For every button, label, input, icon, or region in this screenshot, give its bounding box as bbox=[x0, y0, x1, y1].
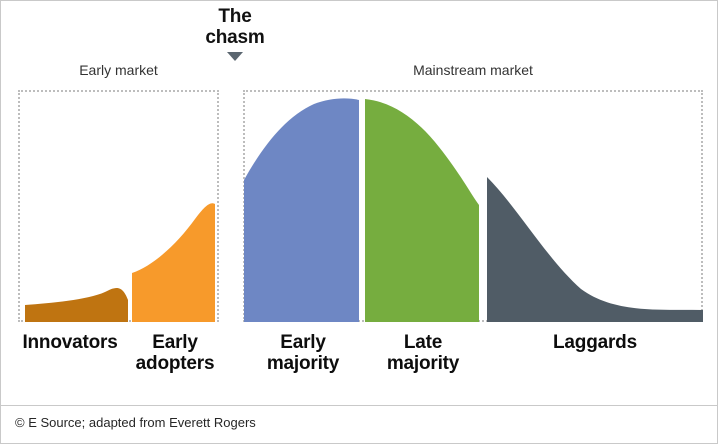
segment-label-innovators: Innovators bbox=[11, 332, 129, 353]
segment-label-late-majority-line-2: majority bbox=[365, 353, 481, 374]
chasm-heading-line-1: The bbox=[179, 7, 291, 28]
segment-label-late-majority-line-1: Late bbox=[365, 332, 481, 353]
early-market-frame bbox=[18, 90, 219, 322]
mainstream-market-caption: Mainstream market bbox=[243, 62, 703, 78]
segment-label-early-majority-line-2: majority bbox=[244, 353, 362, 374]
segment-label-early-majority-line-1: Early bbox=[244, 332, 362, 353]
chasm-heading-line-2: chasm bbox=[179, 28, 291, 49]
segment-label-early-adopters: Early adopters bbox=[129, 332, 221, 375]
footer-divider bbox=[1, 405, 718, 406]
mainstream-market-frame bbox=[243, 90, 703, 322]
segment-label-laggards: Laggards bbox=[487, 332, 703, 353]
segment-label-early-adopters-line-1: Early bbox=[129, 332, 221, 353]
segment-label-laggards-line-1: Laggards bbox=[487, 332, 703, 353]
chasm-heading: The chasm bbox=[179, 7, 291, 48]
early-market-caption: Early market bbox=[18, 62, 219, 78]
footer-credit: © E Source; adapted from Everett Rogers bbox=[15, 415, 256, 430]
triangle-down-icon bbox=[227, 52, 243, 61]
adoption-lifecycle-diagram: The chasm Early market Mainstream market… bbox=[0, 0, 718, 444]
segment-label-early-adopters-line-2: adopters bbox=[129, 353, 221, 374]
segment-label-early-majority: Early majority bbox=[244, 332, 362, 375]
segment-label-innovators-line-1: Innovators bbox=[11, 332, 129, 353]
segment-label-late-majority: Late majority bbox=[365, 332, 481, 375]
